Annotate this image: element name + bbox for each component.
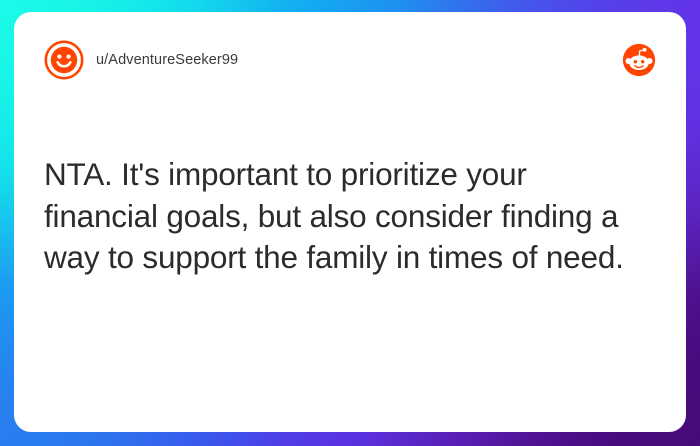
- comment-header: u/AdventureSeeker99: [44, 38, 656, 82]
- avatar[interactable]: [44, 40, 84, 80]
- smiley-face-avatar-icon: [44, 40, 84, 80]
- comment-text: NTA. It's important to prioritize your f…: [44, 154, 624, 279]
- reddit-logo[interactable]: [622, 43, 656, 77]
- username-label: u/AdventureSeeker99: [96, 52, 238, 68]
- comment-body: NTA. It's important to prioritize your f…: [44, 82, 656, 432]
- reddit-snoo-logo-icon: [622, 43, 656, 77]
- reddit-comment-card: u/AdventureSeeker99 NTA. It's i: [14, 12, 686, 432]
